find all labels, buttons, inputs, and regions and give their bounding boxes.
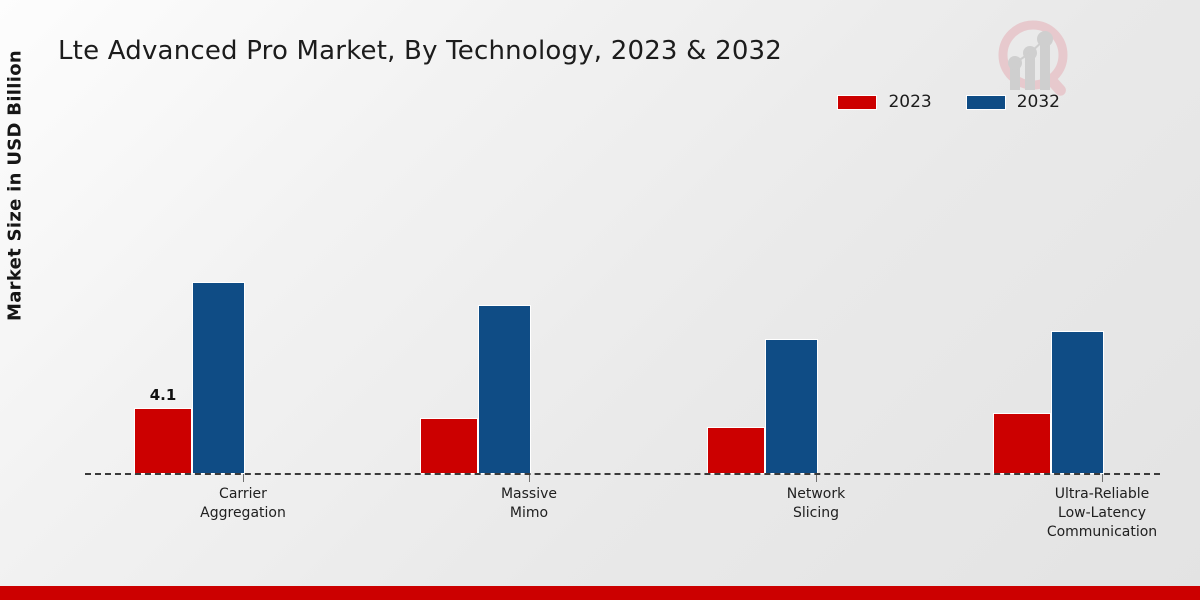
legend-label-2032: 2032 (1017, 92, 1060, 112)
legend-swatch-2023 (837, 95, 877, 110)
bar-2032-network-slicing[interactable] (765, 339, 818, 474)
x-axis-label-massive-mimo: Massive Mimo (414, 485, 644, 523)
x-axis-label-line: Aggregation (128, 504, 358, 523)
legend-item-2023[interactable]: 2023 (837, 92, 931, 112)
x-axis-tick (529, 474, 530, 482)
bar-2023-ultra-reliable-low-latency-communication[interactable] (993, 413, 1051, 474)
x-axis-label-carrier-aggregation: Carrier Aggregation (128, 485, 358, 523)
x-axis-baseline (85, 473, 1160, 475)
bar-group-carrier-aggregation: 4.1 Carrier Aggregation (134, 140, 364, 474)
x-axis-label-ultra-reliable-low-latency-communication: Ultra-Reliable Low-Latency Communication (987, 485, 1200, 542)
bar-value-label: 4.1 (150, 386, 177, 404)
bar-2023-network-slicing[interactable] (707, 427, 765, 474)
bar-group-massive-mimo: Massive Mimo (420, 140, 650, 474)
bar-2032-massive-mimo[interactable] (478, 305, 531, 474)
x-axis-label-line: Ultra-Reliable (987, 485, 1200, 504)
bar-2032-ultra-reliable-low-latency-communication[interactable] (1051, 331, 1104, 474)
chart-legend: 2023 2032 (837, 92, 1060, 112)
footer-accent-bar (0, 586, 1200, 600)
bar-2023-carrier-aggregation[interactable]: 4.1 (134, 408, 192, 474)
plot-area: 4.1 Carrier Aggregation Massive Mimo (85, 140, 1160, 474)
x-axis-label-line: Slicing (701, 504, 931, 523)
x-axis-label-line: Low-Latency (987, 504, 1200, 523)
x-axis-tick (1102, 474, 1103, 482)
x-axis-label-line: Massive (414, 485, 644, 504)
x-axis-label-line: Network (701, 485, 931, 504)
x-axis-label-network-slicing: Network Slicing (701, 485, 931, 523)
legend-swatch-2032 (966, 95, 1006, 110)
y-axis-title: Market Size in USD Billion (5, 21, 26, 351)
x-axis-label-line: Mimo (414, 504, 644, 523)
chart-title: Lte Advanced Pro Market, By Technology, … (58, 36, 782, 66)
x-axis-label-line: Carrier (128, 485, 358, 504)
x-axis-label-line: Communication (987, 523, 1200, 542)
legend-item-2032[interactable]: 2032 (966, 92, 1060, 112)
chart-canvas: Lte Advanced Pro Market, By Technology, … (0, 0, 1200, 600)
legend-label-2023: 2023 (888, 92, 931, 112)
bar-group-network-slicing: Network Slicing (707, 140, 937, 474)
bar-2032-carrier-aggregation[interactable] (192, 282, 245, 474)
bar-2023-massive-mimo[interactable] (420, 418, 478, 474)
x-axis-tick (243, 474, 244, 482)
x-axis-tick (816, 474, 817, 482)
bar-group-ultra-reliable-low-latency-communication: Ultra-Reliable Low-Latency Communication (993, 140, 1200, 474)
